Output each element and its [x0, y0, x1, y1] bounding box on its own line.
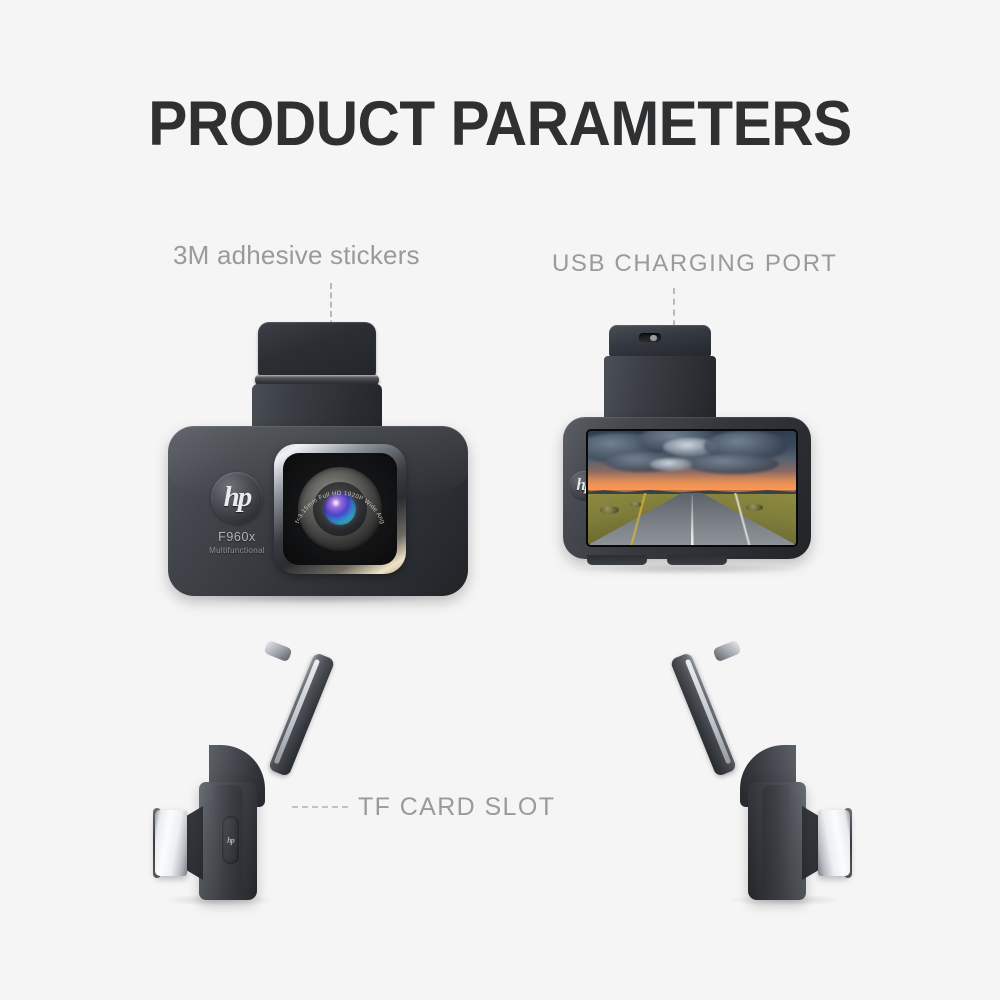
camera-body-side-face-right — [762, 785, 790, 897]
mount-top-bracket — [609, 325, 711, 357]
lens-ring-left — [155, 810, 187, 876]
scene-road-line-left — [588, 493, 692, 545]
mount-neck-rear — [604, 356, 716, 426]
lens-plate: F/1.8 f=3.15mm Full HD 1920P Wide Angle … — [283, 453, 397, 565]
lens-glass-element — [324, 493, 356, 525]
model-number: F960x — [193, 530, 281, 544]
label-usb-charging-port: USB CHARGING PORT — [552, 250, 837, 278]
mount-arm-tip — [263, 640, 292, 663]
usb-charging-port — [639, 333, 661, 342]
mount-arm-right — [670, 652, 738, 777]
camera-body-front: hp F960x Multifunctional F/1 — [168, 426, 468, 596]
camera-body-rear: hp — [563, 417, 811, 559]
lcd-screen-frame — [586, 429, 798, 547]
tf-card-slot: hp — [222, 816, 239, 864]
product-side-view-left: hp — [185, 650, 405, 900]
lcd-screen — [588, 431, 796, 545]
adhesive-mount-pad — [258, 322, 376, 378]
mount-arm-highlight — [274, 659, 321, 765]
body-foot-left — [587, 555, 647, 565]
mount-arm-highlight-right — [685, 659, 732, 765]
infographic-page: PRODUCT PARAMETERS 3M adhesive stickers … — [0, 0, 1000, 1000]
scene-cloud-bright — [650, 458, 692, 471]
hp-monogram: hp — [224, 483, 251, 512]
product-front-view: hp F960x Multifunctional F/1 — [168, 318, 488, 598]
mount-arm-tip-right — [712, 640, 741, 663]
label-adhesive-stickers: 3M adhesive stickers — [173, 240, 420, 271]
body-foot-right — [667, 555, 727, 565]
hp-logo-badge: hp — [211, 472, 263, 524]
product-side-view-right — [600, 650, 820, 900]
mount-arm-left — [268, 652, 336, 777]
lens-specular-highlight — [331, 499, 341, 507]
tf-slot-hp-marking: hp — [227, 836, 234, 845]
usb-port-pin — [650, 335, 657, 341]
lens-bezel: F/1.8 f=3.15mm Full HD 1920P Wide Angle … — [274, 444, 406, 574]
product-rear-view: hp — [563, 325, 833, 590]
model-tagline: Multifunctional — [193, 546, 281, 555]
page-title: PRODUCT PARAMETERS — [35, 88, 965, 160]
lens-ring-right — [818, 810, 850, 876]
scene-road-line-right — [692, 493, 796, 545]
